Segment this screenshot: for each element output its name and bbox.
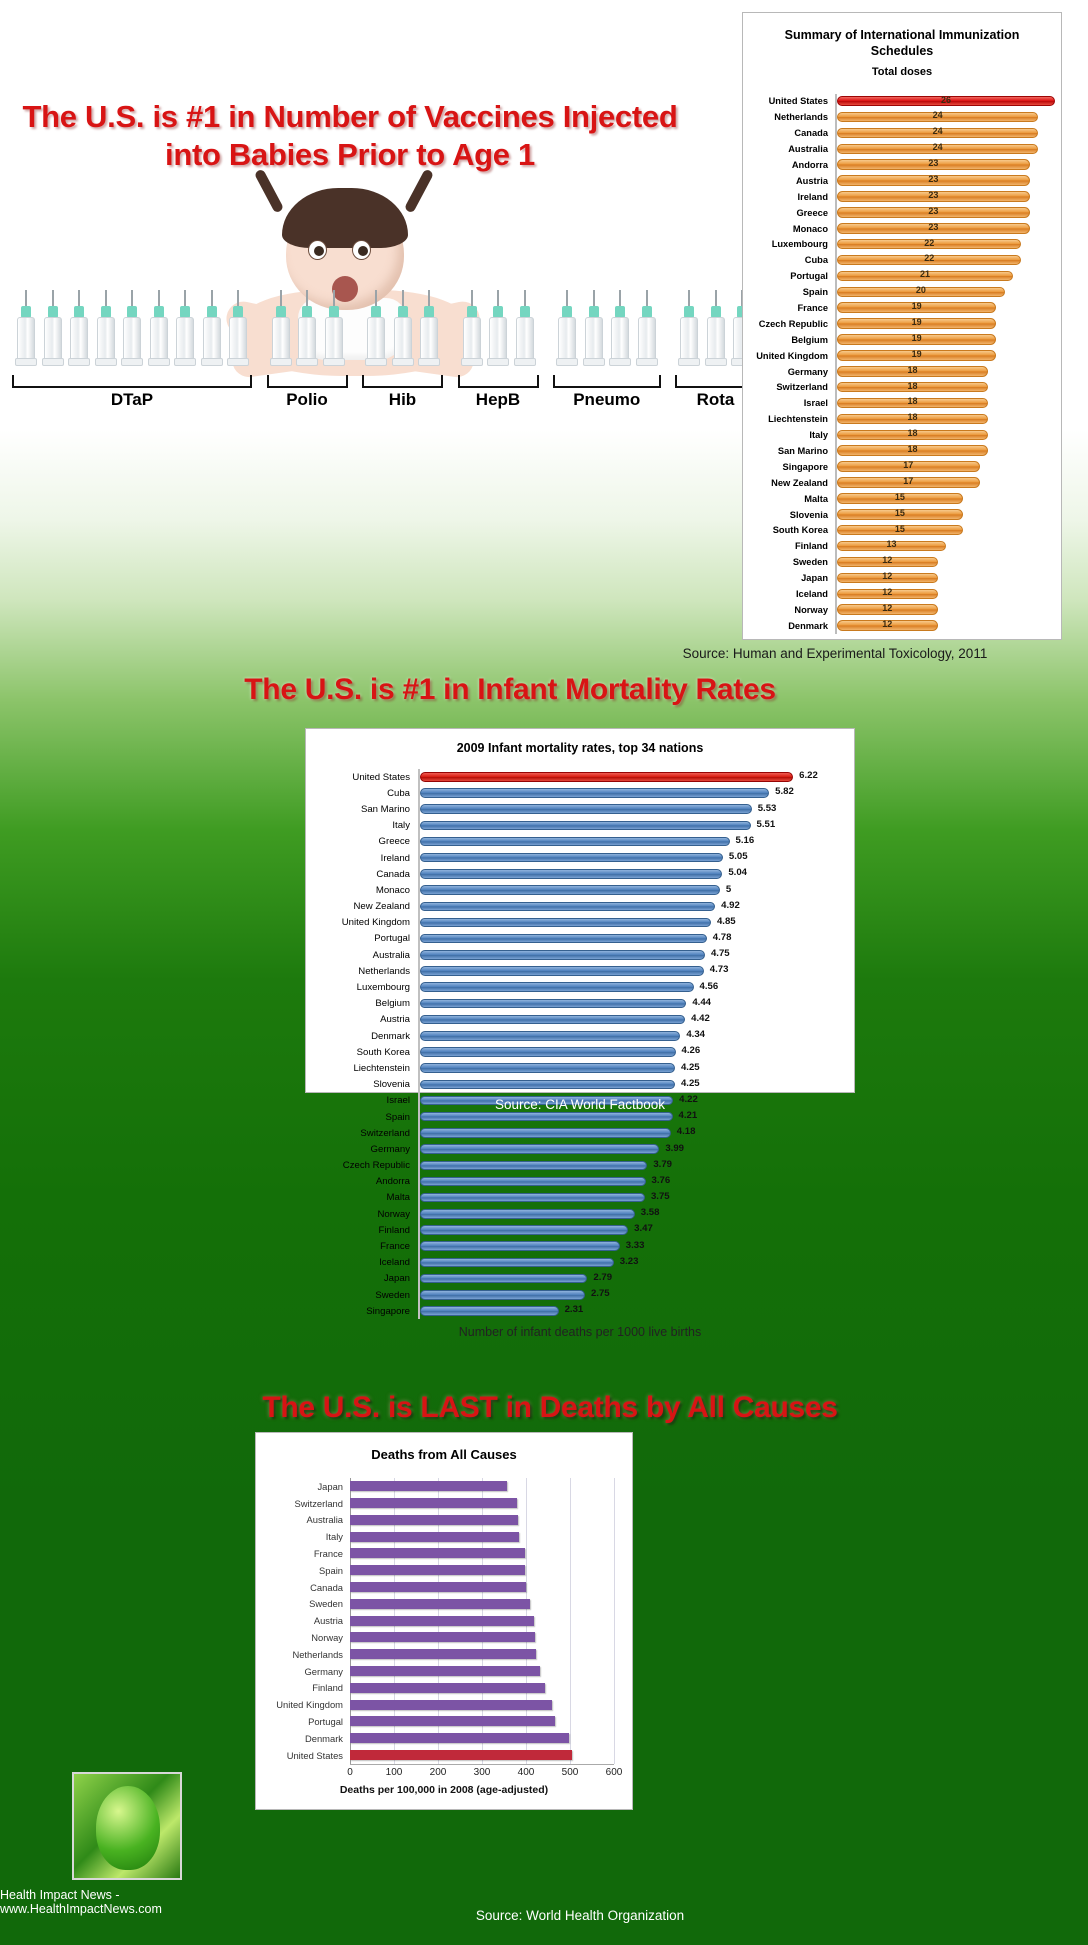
chart2-bar-row: Italy5.51 — [310, 818, 844, 834]
syringe-icon — [200, 290, 224, 368]
chart2-bar-row: Singapore2.31 — [310, 1303, 844, 1319]
chart1-bar-row: Singapore17 — [747, 459, 1055, 475]
chart2-bar-track: 2.75 — [418, 1287, 844, 1303]
chart2-category-label: Malta — [310, 1192, 418, 1203]
chart3-x-axis: 0100200300400500600 — [350, 1764, 614, 1782]
chart1-value-label: 18 — [907, 381, 917, 391]
chart2-value-label: 5.53 — [758, 803, 777, 814]
chart2-bar-track: 5.04 — [418, 866, 844, 882]
chart3-bar — [350, 1683, 545, 1693]
chart1-value-label: 18 — [907, 365, 917, 375]
chart1-category-label: Greece — [747, 208, 835, 218]
syringe-icon — [147, 290, 171, 368]
syringe-icon — [677, 290, 701, 368]
chart1-value-label: 12 — [882, 571, 892, 581]
chart2-category-label: Andorra — [310, 1176, 418, 1187]
chart2-bar-track: 3.76 — [418, 1174, 844, 1190]
chart2-bar-row: New Zealand4.92 — [310, 899, 844, 915]
chart2-value-label: 4.56 — [700, 981, 719, 992]
chart1-bar-track: 15 — [835, 507, 1055, 523]
chart1-bar-track: 17 — [835, 459, 1055, 475]
chart1-bar-track: 20 — [835, 284, 1055, 300]
chart1-bar-track: 18 — [835, 443, 1055, 459]
chart1-bar-track: 19 — [835, 332, 1055, 348]
source-infant-mortality: Source: CIA World Factbook — [300, 1097, 860, 1112]
chart1-bar-row: New Zealand17 — [747, 475, 1055, 491]
chart1-value-label: 23 — [928, 222, 938, 232]
chart2-bar — [420, 1161, 647, 1171]
chart3-x-tick: 400 — [518, 1767, 535, 1778]
chart2-bar-track: 5.05 — [418, 850, 844, 866]
chart2-bar — [420, 853, 723, 863]
chart1-category-label: Canada — [747, 128, 835, 138]
chart2-category-label: Switzerland — [310, 1128, 418, 1139]
chart1-value-label: 17 — [903, 460, 913, 470]
chart2-category-label: South Korea — [310, 1047, 418, 1058]
chart2-value-label: 3.23 — [620, 1256, 639, 1267]
chart1-bar-track: 23 — [835, 221, 1055, 237]
chart1-category-label: Switzerland — [747, 382, 835, 392]
chart1-category-label: Andorra — [747, 160, 835, 170]
chart1-value-label: 19 — [912, 317, 922, 327]
chart1-bar-row: Andorra23 — [747, 157, 1055, 173]
chart3-category-label: Italy — [256, 1531, 350, 1542]
vaccine-bracket — [362, 375, 443, 388]
chart3-bar — [350, 1515, 518, 1525]
chart3-bar-track — [350, 1747, 614, 1764]
chart1-bar-row: Sweden12 — [747, 554, 1055, 570]
chart3-bar — [350, 1716, 555, 1726]
chart1-category-label: Denmark — [747, 621, 835, 631]
chart1-value-label: 18 — [907, 396, 917, 406]
chart2-bar — [420, 1128, 671, 1138]
chart1-bar-row: San Marino18 — [747, 443, 1055, 459]
chart1-category-label: Germany — [747, 367, 835, 377]
chart2-bar-track: 4.92 — [418, 899, 844, 915]
chart1-category-label: Singapore — [747, 462, 835, 472]
chart1-bar-row: Denmark12 — [747, 618, 1055, 634]
chart1-bar-row: Australia24 — [747, 141, 1055, 157]
chart2-bar — [420, 1241, 620, 1251]
chart1-category-label: Czech Republic — [747, 319, 835, 329]
syringe-icon — [513, 290, 537, 368]
chart2-category-label: Singapore — [310, 1306, 418, 1317]
chart2-bar-track: 4.25 — [418, 1060, 844, 1076]
chart3-category-label: Finland — [256, 1682, 350, 1693]
chart1-category-label: Portugal — [747, 271, 835, 281]
chart1-bar-row: Portugal21 — [747, 268, 1055, 284]
chart1-category-label: Liechtenstein — [747, 414, 835, 424]
chart1-bar-row: Finland13 — [747, 538, 1055, 554]
chart3-bar-row: Japan — [256, 1478, 614, 1495]
chart1-bar-row: Liechtenstein18 — [747, 411, 1055, 427]
chart1-bar-track: 13 — [835, 538, 1055, 554]
chart1-bar-row: Israel18 — [747, 395, 1055, 411]
chart3-bar — [350, 1649, 536, 1659]
fruit-icon — [96, 1786, 160, 1870]
chart2-bar-row: Luxembourg4.56 — [310, 979, 844, 995]
chart2-value-label: 4.44 — [692, 997, 711, 1008]
chart1-value-label: 22 — [924, 253, 934, 263]
chart3-bar-row: Netherlands — [256, 1646, 614, 1663]
chart1-bar-track: 12 — [835, 586, 1055, 602]
chart1-bar-track: 23 — [835, 189, 1055, 205]
chart1-category-label: Cuba — [747, 255, 835, 265]
chart1-bar-row: South Korea15 — [747, 523, 1055, 539]
chart2-value-label: 2.31 — [565, 1304, 584, 1315]
chart2-bar-track: 5.51 — [418, 818, 844, 834]
chart2-bar-row: Switzerland4.18 — [310, 1125, 844, 1141]
chart3-category-label: Norway — [256, 1632, 350, 1643]
chart1-category-label: Norway — [747, 605, 835, 615]
chart3-bar — [350, 1498, 517, 1508]
chart1-bar-row: Belgium19 — [747, 332, 1055, 348]
chart2-bar — [420, 1063, 675, 1073]
chart2-bar-track: 3.79 — [418, 1158, 844, 1174]
chart2-value-label: 4.25 — [681, 1062, 700, 1073]
chart1-bar-track: 12 — [835, 618, 1055, 634]
syringe-icon — [322, 290, 346, 368]
chart2-bar-row: United States6.22 — [310, 769, 844, 785]
syringe-icon — [391, 290, 415, 368]
chart3-bar-track — [350, 1696, 614, 1713]
chart1-category-label: Spain — [747, 287, 835, 297]
chart3-bar-row: Portugal — [256, 1713, 614, 1730]
chart2-category-label: New Zealand — [310, 901, 418, 912]
chart1-bar-row: Japan12 — [747, 570, 1055, 586]
chart2-category-label: United States — [310, 772, 418, 783]
chart3-bar-track — [350, 1663, 614, 1680]
chart1-category-label: South Korea — [747, 525, 835, 535]
chart1-bar-track: 23 — [835, 173, 1055, 189]
chart2-bar-row: Portugal4.78 — [310, 931, 844, 947]
chart2-bar — [420, 918, 711, 928]
chart2-category-label: Italy — [310, 820, 418, 831]
baby-syringe-illustration: DTaPPolioHibHepBPneumoRotaFlu — [0, 190, 720, 480]
chart2-value-label: 4.75 — [711, 948, 730, 959]
chart2-bar-track: 3.75 — [418, 1190, 844, 1206]
syringe-icon — [67, 290, 91, 368]
footer-credit: Health Impact News - www.HealthImpactNew… — [0, 1888, 260, 1916]
syringe-icon — [226, 290, 250, 368]
baby-hair — [282, 188, 408, 248]
chart2-bar-track: 5 — [418, 882, 844, 898]
chart3-category-label: Portugal — [256, 1716, 350, 1727]
chart1-value-label: 23 — [928, 158, 938, 168]
chart2-bar-track: 4.25 — [418, 1077, 844, 1093]
chart2-bar-row: Slovenia4.25 — [310, 1077, 844, 1093]
chart2-bar — [420, 1209, 635, 1219]
chart1-bar-row: Monaco23 — [747, 221, 1055, 237]
syringe-icon — [94, 290, 118, 368]
chart1-bar-row: Netherlands24 — [747, 109, 1055, 125]
chart2-bar-track: 3.47 — [418, 1222, 844, 1238]
chart2-bar — [420, 1144, 659, 1154]
chart3-bar-row: France — [256, 1545, 614, 1562]
chart2-value-label: 3.33 — [626, 1240, 645, 1251]
syringe-icon — [555, 290, 579, 368]
chart1-bar-track: 15 — [835, 523, 1055, 539]
chart1-bar-row: Luxembourg22 — [747, 237, 1055, 253]
chart2-bar — [420, 982, 694, 992]
chart1-bar-row: Spain20 — [747, 284, 1055, 300]
syringe-icon — [14, 290, 38, 368]
chart2-bar-track: 4.78 — [418, 931, 844, 947]
chart1-category-label: Monaco — [747, 224, 835, 234]
chart2-category-label: Japan — [310, 1273, 418, 1284]
chart3-bar-track — [350, 1528, 614, 1545]
chart1-bar-track: 23 — [835, 205, 1055, 221]
syringe-icon — [269, 290, 293, 368]
vaccine-bracket — [458, 375, 539, 388]
chart1-value-label: 26 — [941, 95, 951, 105]
chart1-category-label: Malta — [747, 494, 835, 504]
chart2-category-label: Denmark — [310, 1031, 418, 1042]
chart1-value-label: 15 — [895, 492, 905, 502]
chart2-value-label: 4.78 — [713, 932, 732, 943]
chart3-bar-track — [350, 1680, 614, 1697]
chart2-bar-row: Japan2.79 — [310, 1271, 844, 1287]
chart2-category-label: Sweden — [310, 1290, 418, 1301]
syringe-icon — [608, 290, 632, 368]
vaccine-group-label: HepB — [458, 390, 539, 410]
chart1-bar-track: 18 — [835, 395, 1055, 411]
chart1-category-label: United Kingdom — [747, 351, 835, 361]
chart2-bar-track: 3.58 — [418, 1206, 844, 1222]
chart2-bar-track: 3.23 — [418, 1255, 844, 1271]
chart2-bar — [420, 1047, 676, 1057]
chart3-bar-track — [350, 1512, 614, 1529]
syringe-icon — [582, 290, 606, 368]
headline-deaths-all-causes: The U.S. is LAST in Deaths by All Causes — [130, 1390, 970, 1427]
chart3-x-tick: 600 — [606, 1767, 623, 1778]
chart3-bar-track — [350, 1646, 614, 1663]
chart2-bar-row: San Marino5.53 — [310, 801, 844, 817]
chart3-bar-row: Sweden — [256, 1596, 614, 1613]
chart1-category-label: San Marino — [747, 446, 835, 456]
chart2-value-label: 2.79 — [593, 1272, 612, 1283]
chart1-category-label: France — [747, 303, 835, 313]
chart3-bar-track — [350, 1629, 614, 1646]
chart3-category-label: Austria — [256, 1615, 350, 1626]
chart2-category-label: Greece — [310, 836, 418, 847]
chart3-category-label: Switzerland — [256, 1498, 350, 1509]
syringe-icon — [120, 290, 144, 368]
chart1-value-label: 23 — [928, 174, 938, 184]
chart2-bar — [420, 1290, 585, 1300]
chart1-category-label: United States — [747, 96, 835, 106]
chart1-rows: United States26Netherlands24Canada24Aust… — [747, 94, 1055, 634]
chart3-bar-row: Austria — [256, 1612, 614, 1629]
chart3-bar-row: Denmark — [256, 1730, 614, 1747]
chart2-bar-track: 5.16 — [418, 834, 844, 850]
chart2-bar-row: Malta3.75 — [310, 1190, 844, 1206]
chart2-bar — [420, 869, 722, 879]
chart2-category-label: Austria — [310, 1014, 418, 1025]
chart1-bar-track: 18 — [835, 380, 1055, 396]
chart1-value-label: 24 — [933, 110, 943, 120]
chart3-category-label: Denmark — [256, 1733, 350, 1744]
chart2-bar-row: Czech Republic3.79 — [310, 1158, 844, 1174]
chart2-bar — [420, 934, 707, 944]
chart2-category-label: France — [310, 1241, 418, 1252]
chart1-category-label: Austria — [747, 176, 835, 186]
chart2-bar-track: 4.34 — [418, 1028, 844, 1044]
chart2-bar-track: 4.73 — [418, 963, 844, 979]
source-immunization: Source: Human and Experimental Toxicolog… — [600, 646, 1070, 661]
chart3-category-label: France — [256, 1548, 350, 1559]
chart3-x-tick: 0 — [347, 1767, 353, 1778]
chart3-bar-track — [350, 1730, 614, 1747]
chart2-bar-track: 3.33 — [418, 1238, 844, 1254]
syringe-icon — [173, 290, 197, 368]
chart1-bar-track: 21 — [835, 268, 1055, 284]
chart3-bar — [350, 1632, 535, 1642]
chart1-value-label: 19 — [912, 301, 922, 311]
chart1-bar-track: 12 — [835, 570, 1055, 586]
chart1-category-label: Italy — [747, 430, 835, 440]
chart1-bar-track: 24 — [835, 109, 1055, 125]
chart2-bar-row: Finland3.47 — [310, 1222, 844, 1238]
chart1-value-label: 18 — [907, 428, 917, 438]
baby-eye-left — [308, 240, 327, 260]
chart2-category-label: San Marino — [310, 804, 418, 815]
chart2-bar — [420, 1274, 587, 1284]
chart2-bar-row: Norway3.58 — [310, 1206, 844, 1222]
chart2-category-label: Slovenia — [310, 1079, 418, 1090]
chart3-bar-track — [350, 1495, 614, 1512]
chart1-category-label: Iceland — [747, 589, 835, 599]
chart1-value-label: 23 — [928, 206, 938, 216]
chart2-bar — [420, 902, 715, 912]
chart1-value-label: 22 — [924, 238, 934, 248]
chart2-value-label: 5 — [726, 884, 731, 895]
chart3-bar-row: Italy — [256, 1528, 614, 1545]
chart2-bar-row: Monaco5 — [310, 882, 844, 898]
chart1-category-label: Belgium — [747, 335, 835, 345]
chart-deaths-all-causes: Deaths from All Causes JapanSwitzerlandA… — [255, 1432, 633, 1810]
chart1-bar-row: Greece23 — [747, 205, 1055, 221]
chart3-bar-track — [350, 1478, 614, 1495]
chart1-value-label: 19 — [912, 349, 922, 359]
chart1-bar-track: 18 — [835, 411, 1055, 427]
chart3-bar-row: Australia — [256, 1512, 614, 1529]
chart2-bar-track: 4.42 — [418, 1012, 844, 1028]
chart1-bar-track: 12 — [835, 554, 1055, 570]
chart1-value-label: 12 — [882, 619, 892, 629]
chart2-category-label: Ireland — [310, 853, 418, 864]
chart2-value-label: 5.05 — [729, 851, 748, 862]
chart2-value-label: 4.92 — [721, 900, 740, 911]
headline-vaccines: The U.S. is #1 in Number of Vaccines Inj… — [20, 98, 680, 174]
chart2-category-label: Cuba — [310, 788, 418, 799]
chart3-category-label: United States — [256, 1750, 350, 1761]
chart1-bar-track: 12 — [835, 602, 1055, 618]
chart2-category-label: Australia — [310, 950, 418, 961]
chart2-value-label: 5.51 — [757, 819, 776, 830]
chart2-bar — [420, 966, 704, 976]
chart2-bar-track: 3.99 — [418, 1141, 844, 1157]
chart2-value-label: 5.04 — [728, 867, 747, 878]
chart3-bar-row: Switzerland — [256, 1495, 614, 1512]
chart2-xlabel: Number of infant deaths per 1000 live bi… — [306, 1325, 854, 1339]
chart2-bar-track: 2.31 — [418, 1303, 844, 1319]
chart3-bar — [350, 1750, 572, 1760]
chart1-category-label: Netherlands — [747, 112, 835, 122]
source-deaths: Source: World Health Organization — [300, 1908, 860, 1923]
chart3-category-label: United Kingdom — [256, 1699, 350, 1710]
chart1-value-label: 17 — [903, 476, 913, 486]
chart2-rows: United States6.22Cuba5.82San Marino5.53I… — [310, 769, 844, 1319]
chart1-value-label: 13 — [886, 539, 896, 549]
chart1-bar-row: Canada24 — [747, 125, 1055, 141]
hair-pigtail-right-icon — [404, 168, 434, 213]
chart3-bar-track — [350, 1713, 614, 1730]
chart3-bar-row: Norway — [256, 1629, 614, 1646]
chart1-category-label: Finland — [747, 541, 835, 551]
health-impact-news-logo — [72, 1772, 182, 1880]
chart2-category-label: United Kingdom — [310, 917, 418, 928]
chart1-bar-row: Slovenia15 — [747, 507, 1055, 523]
syringe-icon — [635, 290, 659, 368]
chart2-value-label: 5.82 — [775, 786, 794, 797]
chart3-bar-row: United Kingdom — [256, 1696, 614, 1713]
chart3-rows: JapanSwitzerlandAustraliaItalyFranceSpai… — [256, 1478, 614, 1764]
chart1-value-label: 21 — [920, 269, 930, 279]
chart2-bar — [420, 804, 752, 814]
chart2-bar — [420, 1225, 628, 1235]
chart1-bar-track: 24 — [835, 141, 1055, 157]
chart3-category-label: Spain — [256, 1565, 350, 1576]
chart3-x-tick: 300 — [474, 1767, 491, 1778]
chart1-value-label: 12 — [882, 587, 892, 597]
chart3-gridline — [614, 1478, 615, 1764]
chart1-bar-track: 22 — [835, 237, 1055, 253]
chart2-category-label: Spain — [310, 1112, 418, 1123]
chart2-bar — [420, 1258, 614, 1268]
chart1-category-label: Japan — [747, 573, 835, 583]
chart1-bar-row: France19 — [747, 300, 1055, 316]
chart2-category-label: Portugal — [310, 933, 418, 944]
chart3-bar — [350, 1481, 507, 1491]
chart1-category-label: Slovenia — [747, 510, 835, 520]
chart1-bar-row: Ireland23 — [747, 189, 1055, 205]
chart2-bar — [420, 821, 751, 831]
chart2-category-label: Canada — [310, 869, 418, 880]
syringe-icon — [417, 290, 441, 368]
syringe-icon — [704, 290, 728, 368]
chart2-bar — [420, 885, 720, 895]
chart2-bar-row: Cuba5.82 — [310, 785, 844, 801]
chart2-bar — [420, 1306, 559, 1316]
chart3-x-tick: 200 — [430, 1767, 447, 1778]
syringe-icon — [460, 290, 484, 368]
chart1-category-label: New Zealand — [747, 478, 835, 488]
chart1-value-label: 15 — [895, 524, 905, 534]
chart1-bar-track: 19 — [835, 300, 1055, 316]
chart2-bar-row: South Korea4.26 — [310, 1044, 844, 1060]
chart2-bar-row: Germany3.99 — [310, 1141, 844, 1157]
chart1-bar-track: 18 — [835, 364, 1055, 380]
syringe-icon — [41, 290, 65, 368]
chart3-bar-row: Finland — [256, 1680, 614, 1697]
chart2-category-label: Monaco — [310, 885, 418, 896]
chart2-value-label: 4.18 — [677, 1126, 696, 1137]
chart3-bar — [350, 1582, 526, 1592]
chart1-value-label: 24 — [933, 142, 943, 152]
chart3-bar — [350, 1548, 525, 1558]
chart1-bar-row: United Kingdom19 — [747, 348, 1055, 364]
